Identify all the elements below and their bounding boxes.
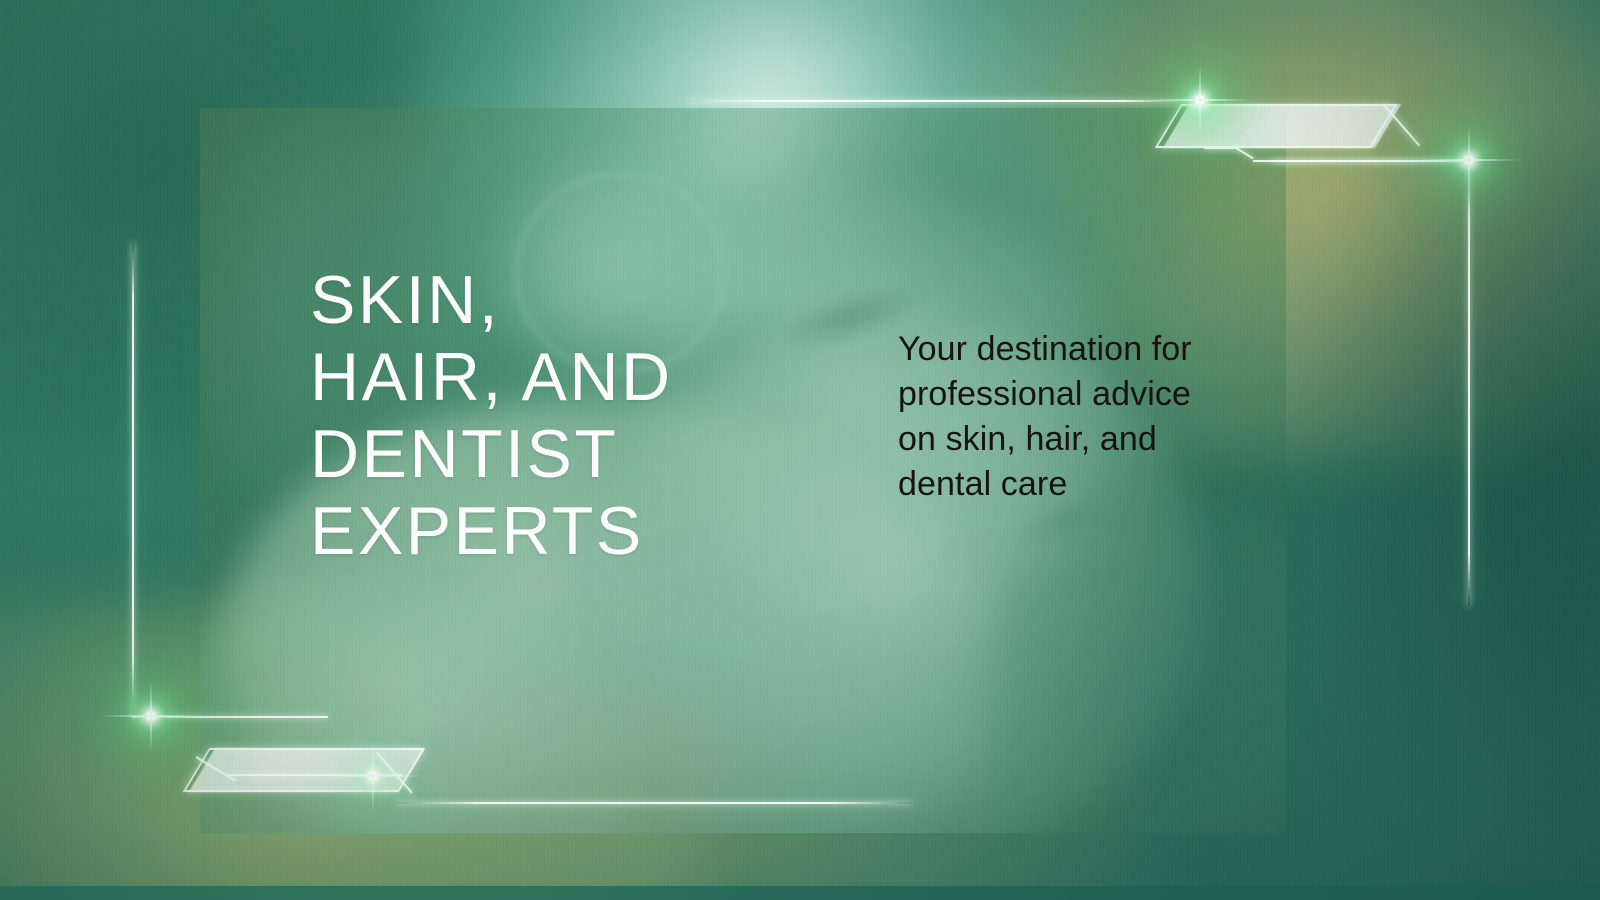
vignette-overlay [0, 0, 1600, 900]
bottom-edge-band [0, 886, 1600, 900]
promotional-banner: Skin, hair, and dentist experts Your des… [0, 0, 1600, 900]
